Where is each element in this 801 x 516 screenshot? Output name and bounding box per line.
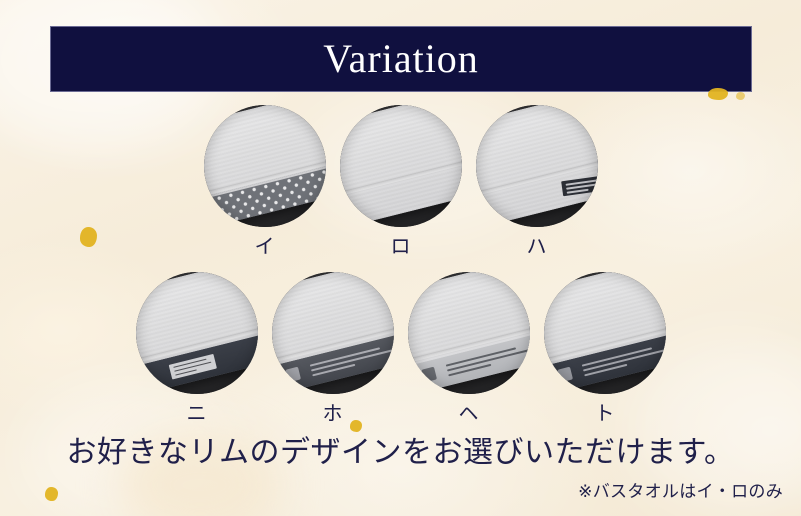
towel-photo-ho [272,272,394,394]
variation-label-i: イ [255,236,275,256]
towel-photo-ro [340,105,462,227]
variation-item-he[interactable]: ヘ [405,272,533,423]
variation-label-ni: ニ [187,403,207,423]
title-banner: Variation [50,26,752,92]
towel-photo-he [408,272,530,394]
variation-label-ro: ロ [391,236,411,256]
variation-label-ho: ホ [323,403,343,423]
variation-grid: イ ロ [0,105,801,423]
page-title: Variation [323,39,479,79]
variation-label-ha: ハ [527,236,547,256]
variation-page: Variation イ [0,0,801,516]
variation-item-to[interactable]: ト [541,272,669,423]
towel-photo-i [204,105,326,227]
confetti-speck [736,92,745,100]
variation-item-ha[interactable]: ハ [473,105,601,256]
towel-photo-to [544,272,666,394]
confetti-speck [45,487,58,501]
variation-label-he: ヘ [459,403,479,423]
variation-row-1: イ ロ [0,105,801,256]
variation-row-2: ニ ホ [0,272,801,423]
variation-item-ni[interactable]: ニ [133,272,261,423]
variation-item-ho[interactable]: ホ [269,272,397,423]
towel-photo-ni [136,272,258,394]
footnote: ※バスタオルはイ・ロのみ [578,482,783,502]
towel-photo-ha [476,105,598,227]
variation-item-i[interactable]: イ [201,105,329,256]
variation-label-to: ト [595,403,615,423]
main-caption: お好きなリムのデザインをお選びいただけます。 [0,434,801,472]
variation-item-ro[interactable]: ロ [337,105,465,256]
